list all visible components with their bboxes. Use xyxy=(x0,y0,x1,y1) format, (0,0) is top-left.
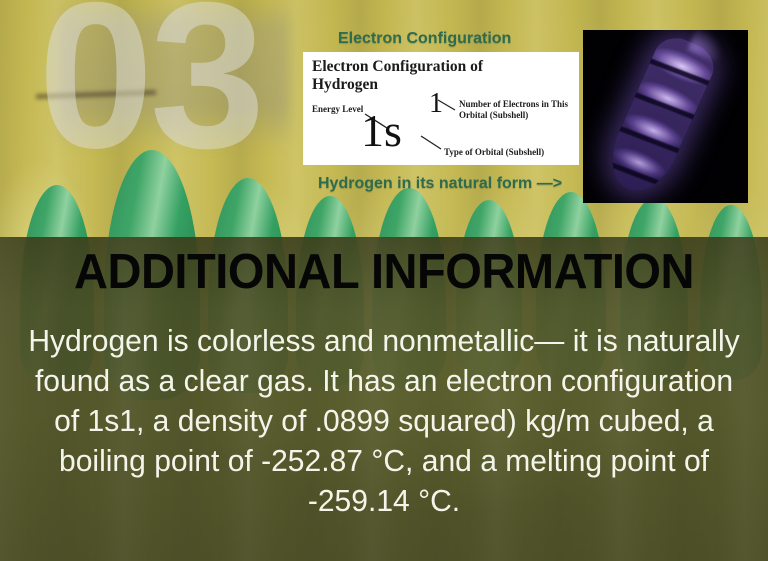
slide-number-overlay: 03 xyxy=(38,0,261,180)
body-paragraph: Hydrogen is colorless and nonmetallic— i… xyxy=(27,322,740,522)
electron-count-superscript: 1 xyxy=(429,90,443,118)
label-number-of-electrons: Number of Electrons in This Orbital (Sub… xyxy=(459,99,577,120)
caption-electron-configuration: Electron Configuration xyxy=(338,30,511,48)
hydrogen-discharge-tube-photo xyxy=(583,30,748,203)
label-energy-level: Energy Level xyxy=(312,104,363,115)
orbital-notation: 1s xyxy=(361,108,402,154)
slide: 03 03 Electron Configuration Electron Co… xyxy=(0,0,768,561)
page-title: ADDITIONAL INFORMATION xyxy=(15,247,752,298)
label-type-of-orbital: Type of Orbital (Subshell) xyxy=(444,147,544,158)
caption-hydrogen-natural-form: Hydrogen in its natural form —> xyxy=(318,175,562,193)
electron-configuration-diagram: Electron Configuration of Hydrogen Energ… xyxy=(303,52,579,165)
